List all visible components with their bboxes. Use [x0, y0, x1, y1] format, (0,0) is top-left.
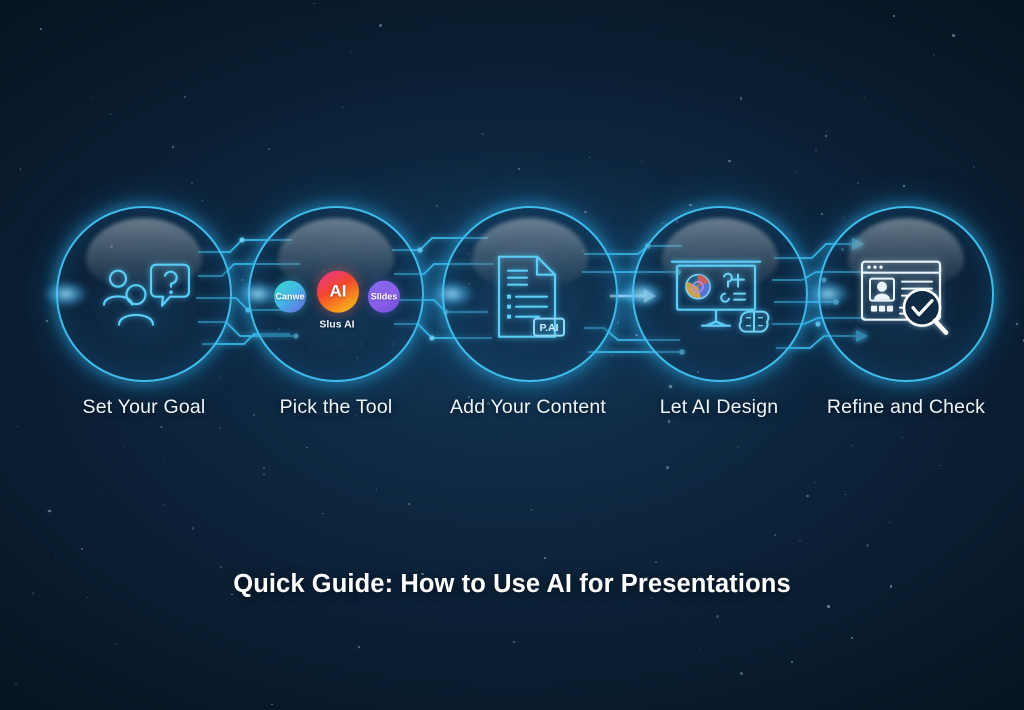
- particle-dot: [172, 146, 174, 148]
- particle-dot: [55, 556, 56, 557]
- particle-dot: [682, 615, 684, 617]
- particle-dot: [615, 107, 616, 108]
- particle-dot: [163, 458, 164, 459]
- particle-dot: [271, 704, 272, 705]
- particle-dot: [15, 683, 17, 685]
- particle-dot: [219, 427, 221, 429]
- particle-dot: [939, 465, 940, 466]
- particle-dot: [589, 157, 590, 158]
- particle-dot: [530, 509, 533, 512]
- particle-dot: [45, 635, 47, 637]
- infographic-canvas: Canwe AI Slides Slus AI: [0, 0, 1024, 710]
- step-node-5[interactable]: [818, 206, 994, 382]
- particle-dot: [902, 437, 903, 438]
- particle-dot: [806, 495, 809, 498]
- particle-dot: [889, 522, 890, 523]
- particle-dot: [481, 133, 484, 136]
- particle-dot: [40, 28, 43, 31]
- particle-dot: [728, 160, 731, 163]
- particle-dot: [740, 97, 743, 100]
- process-flow: Canwe AI Slides Slus AI: [0, 206, 1024, 386]
- step-node-1[interactable]: [56, 206, 232, 382]
- particle-dot: [857, 182, 859, 184]
- particle-dot: [263, 467, 265, 469]
- particle-dot: [932, 202, 933, 203]
- people-question-icon: [56, 252, 232, 344]
- particle-dot: [110, 114, 111, 115]
- particle-dot: [845, 494, 846, 495]
- step-node-4[interactable]: [632, 206, 808, 382]
- particle-dot: [163, 504, 165, 506]
- particle-dot: [700, 648, 701, 649]
- particle-dot: [647, 170, 648, 171]
- ai-badge[interactable]: AI: [317, 271, 359, 313]
- particle-dot: [322, 513, 324, 515]
- step-node-2[interactable]: Canwe AI Slides Slus AI: [248, 206, 424, 382]
- particle-dot: [815, 482, 816, 483]
- particle-dot: [864, 97, 866, 99]
- particle-dot: [598, 522, 599, 523]
- particle-dot: [124, 447, 125, 448]
- particle-dot: [268, 148, 270, 150]
- profile-review-icon: [818, 252, 994, 344]
- particle-dot: [796, 171, 798, 173]
- particle-dot: [90, 97, 92, 99]
- particle-dot: [973, 166, 974, 167]
- ai-tool-badges-icon: Canwe AI Slides Slus AI: [248, 252, 424, 344]
- particle-dot: [17, 426, 18, 427]
- particle-dot: [160, 426, 162, 428]
- particle-dot: [358, 646, 360, 648]
- particle-dot: [115, 643, 117, 645]
- badge-caption: Slus AI: [274, 319, 400, 331]
- particle-dot: [774, 534, 776, 536]
- particle-dot: [716, 615, 719, 618]
- particle-dot: [866, 544, 869, 547]
- particle-dot: [851, 637, 853, 639]
- particle-dot: [350, 52, 351, 53]
- document-ai-badge: P.AI: [534, 319, 564, 336]
- canva-badge[interactable]: Canwe: [274, 281, 306, 313]
- particle-dot: [96, 488, 97, 489]
- particle-dot: [342, 106, 344, 108]
- particle-dot: [48, 510, 50, 512]
- particle-dot: [799, 540, 802, 543]
- presentation-brain-icon: [632, 252, 808, 344]
- particle-dot: [303, 470, 304, 471]
- particle-dot: [717, 493, 718, 494]
- particle-dot: [757, 699, 758, 700]
- particle-dot: [641, 161, 643, 163]
- particle-dot: [815, 149, 817, 151]
- step-label-5: Refine and Check: [791, 396, 1021, 419]
- document-outline-icon: P.AI: [442, 252, 618, 344]
- particle-dot: [827, 605, 829, 607]
- particle-dot: [691, 34, 692, 35]
- particle-dot: [81, 548, 83, 550]
- particle-dot: [655, 561, 657, 563]
- particle-dot: [379, 24, 382, 27]
- particle-dot: [191, 182, 193, 184]
- particle-dot: [20, 168, 21, 169]
- particle-dot: [192, 527, 195, 530]
- particle-dot: [513, 641, 516, 644]
- particle-dot: [825, 135, 827, 137]
- particle-dot: [933, 54, 935, 56]
- step-node-3[interactable]: P.AI: [442, 206, 618, 382]
- page-title: Quick Guide: How to Use AI for Presentat…: [0, 570, 1024, 599]
- mini-chart: [686, 275, 710, 299]
- particle-dot: [893, 15, 895, 17]
- particle-dot: [839, 58, 840, 59]
- slides-badge[interactable]: Slides: [368, 281, 400, 313]
- particle-dot: [263, 473, 265, 475]
- particle-dot: [518, 168, 521, 171]
- particle-dot: [740, 672, 743, 675]
- particle-dot: [851, 445, 852, 446]
- particle-dot: [826, 130, 828, 132]
- particle-dot: [184, 96, 186, 98]
- svg-text:P.AI: P.AI: [539, 322, 558, 334]
- particle-dot: [313, 3, 315, 5]
- particle-dot: [306, 447, 307, 448]
- particle-dot: [791, 661, 793, 663]
- particle-dot: [153, 16, 154, 17]
- brain-icon: [740, 312, 769, 332]
- particle-dot: [374, 483, 376, 485]
- particle-dot: [737, 446, 739, 448]
- particle-dot: [903, 185, 904, 186]
- particle-dot: [376, 489, 377, 490]
- particle-dot: [220, 566, 223, 569]
- particle-dot: [202, 200, 203, 201]
- particle-dot: [544, 557, 546, 559]
- particle-dot: [668, 420, 671, 423]
- particle-dot: [666, 466, 669, 469]
- particle-dot: [408, 503, 410, 505]
- particle-dot: [952, 34, 955, 37]
